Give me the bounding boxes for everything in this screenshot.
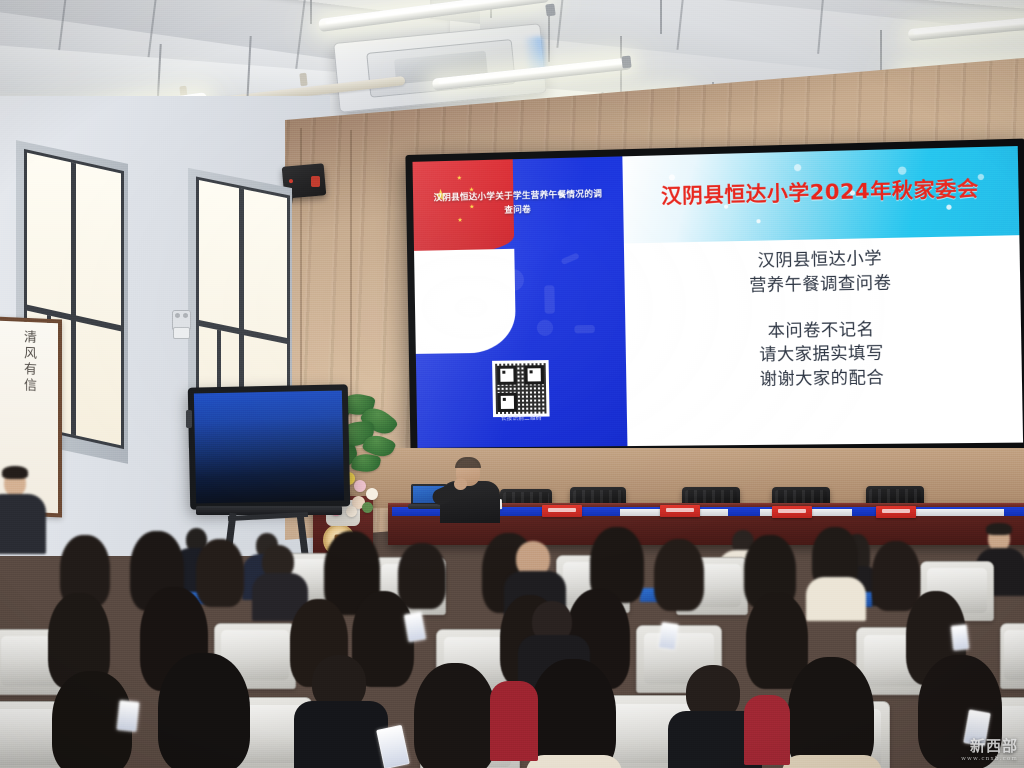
phone[interactable] <box>951 624 970 651</box>
wall-switch-plate[interactable] <box>173 327 190 339</box>
projection-screen[interactable]: ★ ★ ★ ★ ★ 汉阴县恒达小学关于学生营养午餐情况的调查问卷 <box>405 139 1024 455</box>
conference-hall-photo: 清风有信 ★ ★ ★ ★ ★ 汉阴县恒达小学关于学生营养午餐情况的调查问卷 <box>0 0 1024 768</box>
audience-area <box>0 505 1024 768</box>
slide-left-panel: ★ ★ ★ ★ ★ 汉阴县恒达小学关于学生营养午餐情况的调查问卷 <box>412 156 627 448</box>
slide-note-line-3: 谢谢大家的配合 <box>626 364 1022 393</box>
speaker-hair <box>455 457 481 468</box>
watermark-url: www.cnxb.com <box>961 756 1018 762</box>
questionnaire-heading: 汉阴县恒达小学关于学生营养午餐情况的调查问卷 <box>430 189 607 220</box>
questionnaire-qr-code[interactable] <box>492 360 550 417</box>
phone[interactable] <box>404 612 427 643</box>
slide-note-lines: 本问卷不记名 请大家据实填写 谢谢大家的配合 <box>625 315 1022 393</box>
slide-body-lines: 汉阴县恒达小学 营养午餐调查问卷 <box>624 244 1020 301</box>
interactive-display-monitor[interactable] <box>188 384 351 509</box>
phone[interactable] <box>658 622 678 650</box>
monitor-side-handle <box>186 410 192 428</box>
watermark-name: 新西部 <box>961 739 1018 754</box>
auditorium-seat[interactable] <box>1000 623 1024 689</box>
screen-display-area: ★ ★ ★ ★ ★ 汉阴县恒达小学关于学生营养午餐情况的调查问卷 <box>412 146 1023 448</box>
slide-right-panel: 汉阴县恒达小学2024年秋家委会 汉阴县恒达小学 营养午餐调查问卷 本问卷不记名… <box>622 146 1023 446</box>
phone[interactable] <box>116 700 139 732</box>
qr-caption: 长按识别二维码 <box>417 413 627 423</box>
speaker-hand <box>454 478 467 490</box>
fire-alarm-device <box>311 176 320 187</box>
screen-bezel: ★ ★ ★ ★ ★ 汉阴县恒达小学关于学生营养午餐情况的调查问卷 <box>405 139 1024 455</box>
monitor-screen <box>194 390 344 503</box>
watermark: 新西部 www.cnxb.com <box>961 739 1018 762</box>
